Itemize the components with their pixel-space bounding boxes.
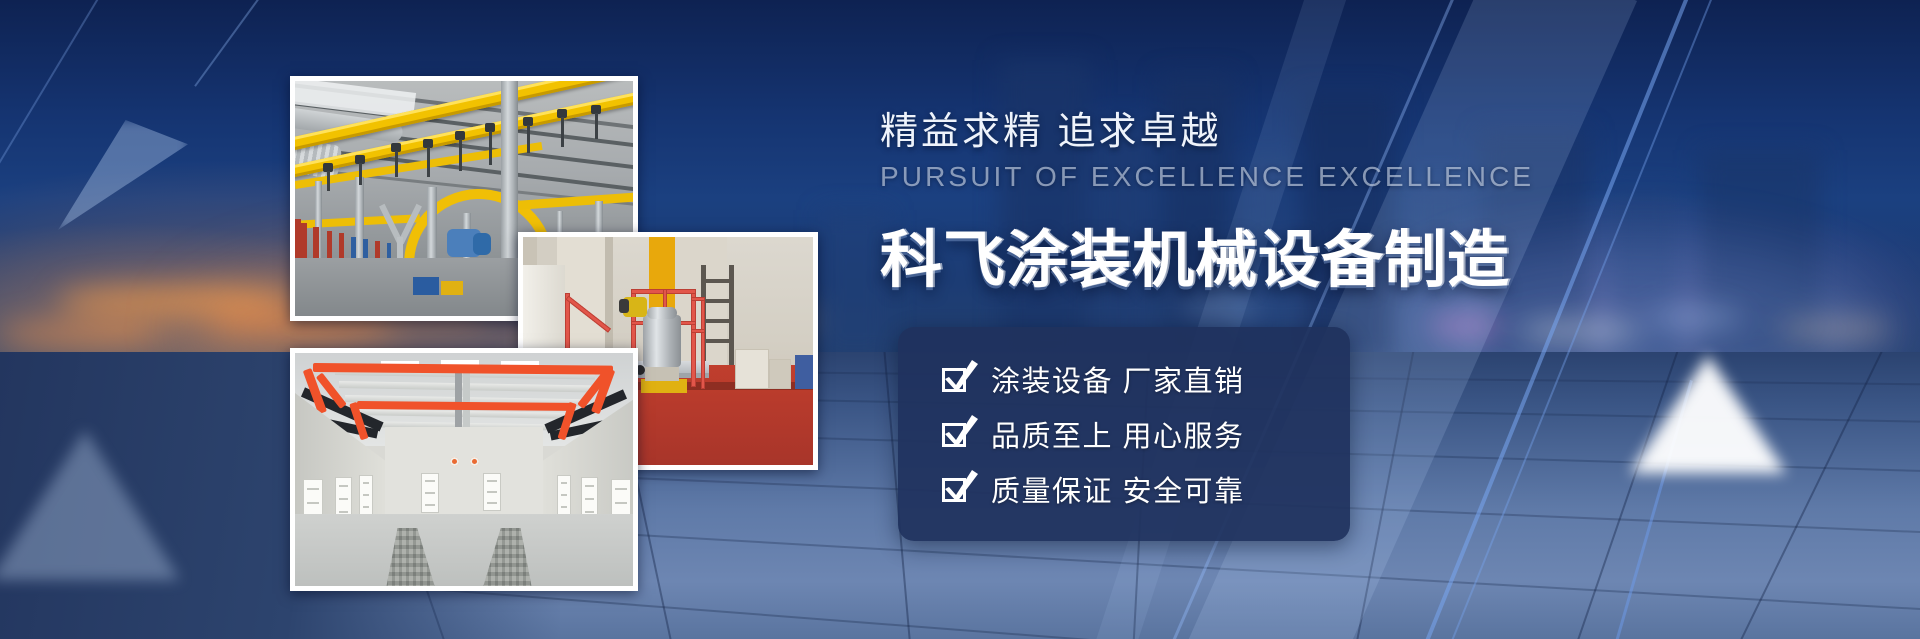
headline-copy-block: 精益求精 追求卓越 PURSUIT OF EXCELLENCE EXCELLEN…: [880, 100, 1534, 299]
decor-triangle-glow-right: [1630, 355, 1786, 473]
tagline-english: PURSUIT OF EXCELLENCE EXCELLENCE: [880, 161, 1534, 193]
feature-item: 质量保证 安全可靠: [942, 461, 1350, 516]
spray-booth-interior-photo: [290, 348, 638, 591]
feature-label: 品质至上 用心服务: [991, 413, 1245, 455]
promo-banner: 精益求精 追求卓越 PURSUIT OF EXCELLENCE EXCELLEN…: [0, 0, 1920, 639]
vent-indicator-icon: [450, 457, 459, 466]
checkbox-checked-icon: [942, 365, 969, 392]
checkbox-checked-icon: [942, 475, 969, 502]
feature-label: 涂装设备 厂家直销: [991, 358, 1245, 400]
feature-label: 质量保证 安全可靠: [991, 468, 1245, 510]
feature-highlights-box: 涂装设备 厂家直销 品质至上 用心服务 质量保证 安全可靠: [898, 327, 1350, 541]
feature-item: 涂装设备 厂家直销: [942, 351, 1350, 406]
company-headline: 科飞涂装机械设备制造: [880, 209, 1534, 299]
feature-item: 品质至上 用心服务: [942, 406, 1350, 461]
checkbox-checked-icon: [942, 420, 969, 447]
tagline-chinese: 精益求精 追求卓越: [880, 100, 1534, 155]
vent-indicator-icon: [470, 457, 479, 466]
decor-triangle-left: [0, 430, 180, 580]
